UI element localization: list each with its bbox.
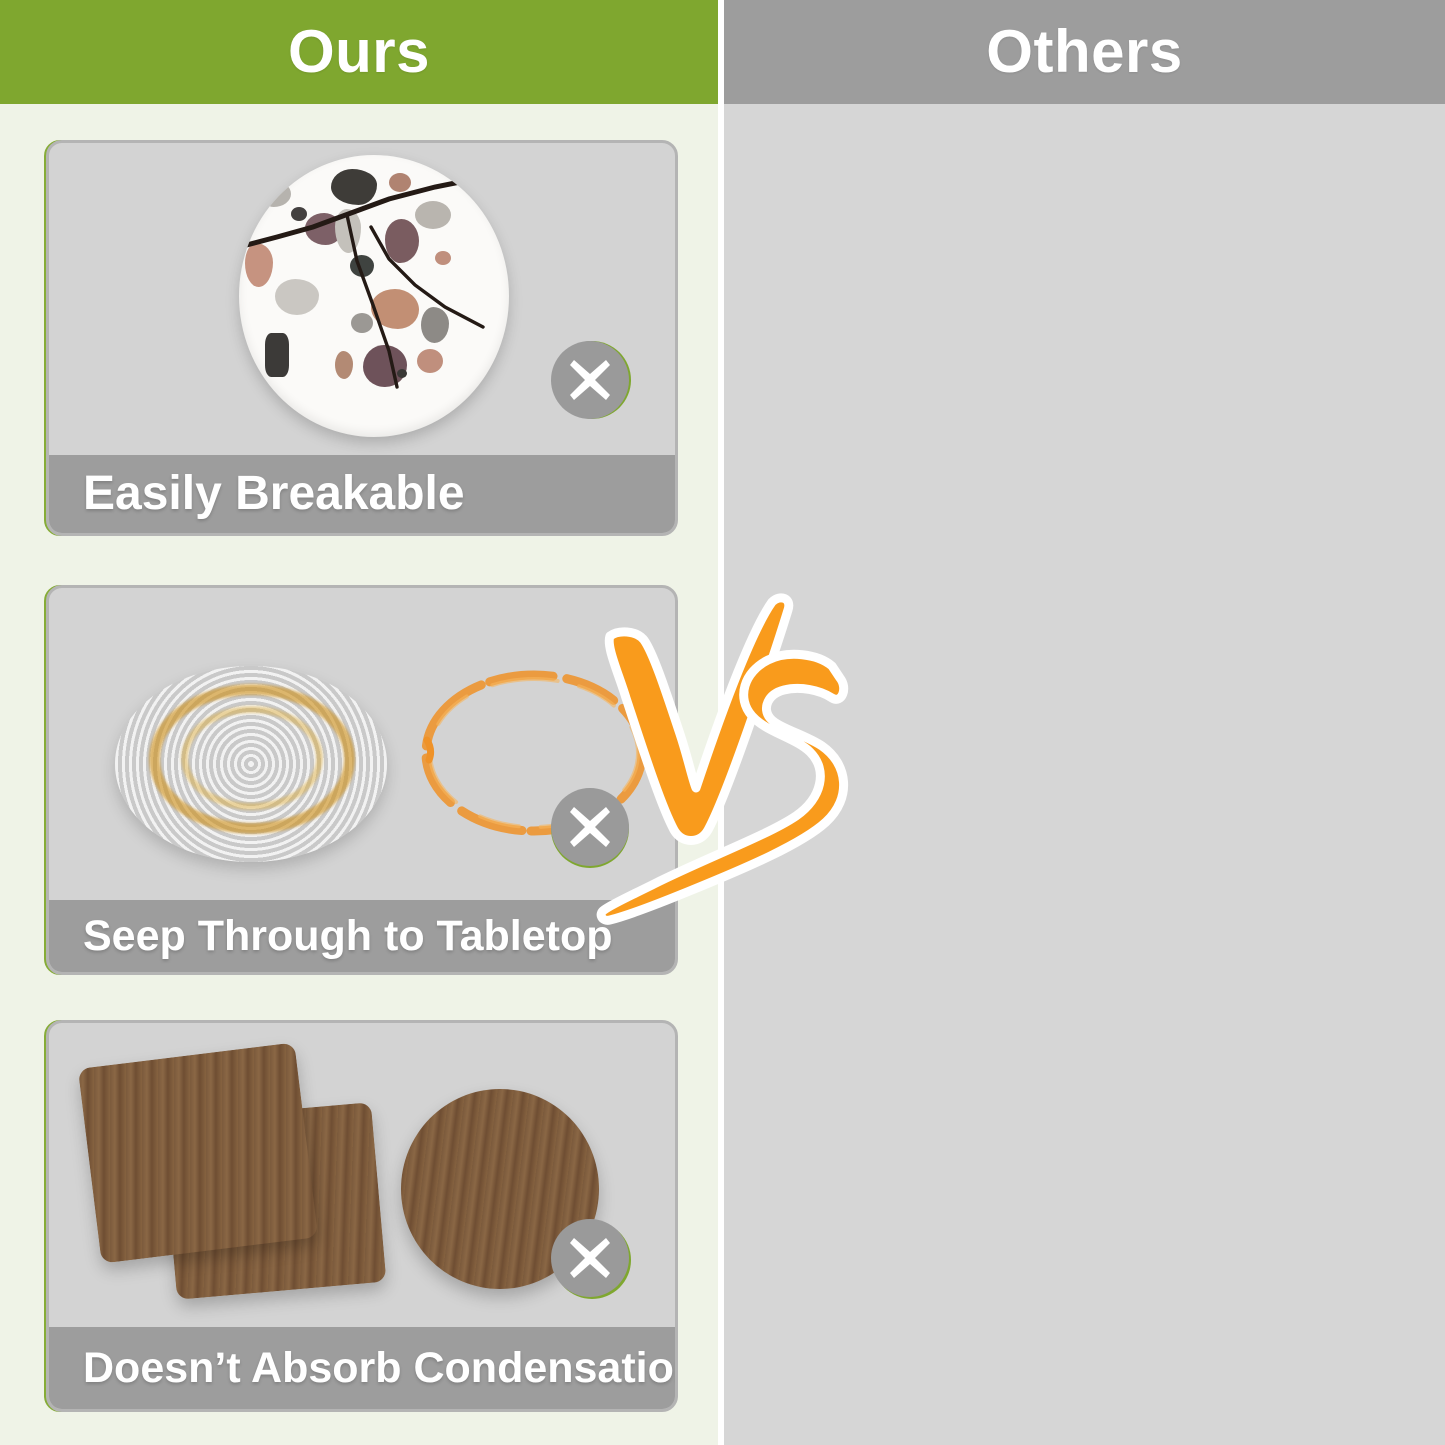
others-card-row1-label: Easily Breakable <box>49 455 675 533</box>
cross-icon <box>551 1219 629 1297</box>
others-card-row1[interactable]: Easily Breakable <box>46 140 678 536</box>
cracked-terrazzo-coaster <box>239 155 509 437</box>
others-card-row3-label-text: Doesn’t Absorb Condensation <box>83 1347 678 1390</box>
others-card-row3-label: Doesn’t Absorb Condensation <box>49 1327 675 1409</box>
others-header-title: Others <box>986 22 1182 82</box>
others-card-row2-label-text: Seep Through to Tabletop <box>83 915 613 958</box>
crack-lines-icon <box>239 155 509 437</box>
comparison-infographic: Ours Others Durable & Sturdy <box>0 0 1445 1445</box>
others-card-row3[interactable]: Doesn’t Absorb Condensation <box>46 1020 678 1412</box>
coaster-stain-ring-inner <box>181 706 323 810</box>
others-card-row2[interactable]: Seep Through to Tabletop <box>46 585 678 975</box>
others-header: Others <box>724 0 1445 104</box>
others-card-row1-label-text: Easily Breakable <box>83 470 465 518</box>
cross-icon <box>551 341 629 419</box>
vs-brush-mark-icon <box>596 592 858 932</box>
ours-header-title: Ours <box>288 22 430 82</box>
others-card-row2-label: Seep Through to Tabletop <box>49 900 675 972</box>
ours-header: Ours <box>0 0 718 104</box>
square-wood-coaster-front <box>78 1042 318 1263</box>
